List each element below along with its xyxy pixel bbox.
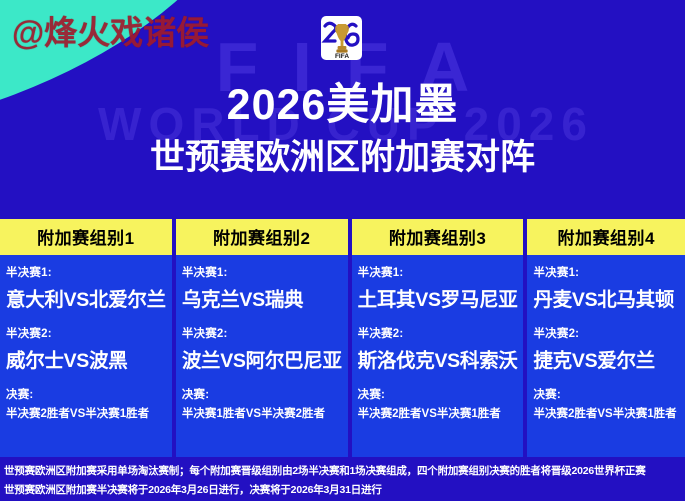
final-matchup: 半决赛2胜者VS半决赛1胜者: [358, 405, 518, 421]
page-subtitle: 世预赛欧洲区附加赛对阵: [0, 138, 685, 178]
semifinal-1-label: 半决赛1:: [358, 264, 518, 280]
semifinal-1-label: 半决赛1:: [533, 264, 679, 280]
playoff-group-1: 附加赛组别1 半决赛1: 意大利VS北爱尔兰 半决赛2: 威尔士VS波黑 决赛:…: [0, 219, 172, 457]
playoff-group-4: 附加赛组别4 半决赛1: 丹麦VS北马其顿 半决赛2: 捷克VS爱尔兰 决赛: …: [527, 219, 685, 457]
group-header: 附加赛组别4: [527, 219, 685, 255]
group-body: 半决赛1: 乌克兰VS瑞典 半决赛2: 波兰VS阿尔巴尼亚 决赛: 半决赛1胜者…: [176, 255, 348, 421]
semifinal-2-label: 半决赛2:: [182, 325, 342, 341]
final-matchup: 半决赛2胜者VS半决赛1胜者: [6, 405, 166, 421]
final-matchup: 半决赛1胜者VS半决赛2胜者: [182, 405, 342, 421]
title-block: 2026美加墨 世预赛欧洲区附加赛对阵: [0, 82, 685, 179]
semifinal-1-matchup: 意大利VS北爱尔兰: [6, 283, 166, 312]
final-label: 决赛:: [533, 386, 679, 402]
semifinal-2-label: 半决赛2:: [358, 325, 518, 341]
channel-watermark: @烽火戏诸侯: [12, 6, 209, 54]
semifinal-1-matchup: 土耳其VS罗马尼亚: [358, 283, 518, 312]
semifinal-2-matchup: 波兰VS阿尔巴尼亚: [182, 344, 342, 373]
page-title: 2026美加墨: [0, 82, 685, 128]
semifinal-1-label: 半决赛1:: [182, 264, 342, 280]
semifinal-1-label: 半决赛1:: [6, 264, 166, 280]
fifa-world-cup-26-logo: FIFA: [320, 12, 364, 72]
semifinal-1-matchup: 乌克兰VS瑞典: [182, 283, 342, 312]
footer-note-format: 世预赛欧洲区附加赛采用单场淘汰赛制；每个附加赛晋级组别由2场半决赛和1场决赛组成…: [4, 462, 681, 481]
semifinal-2-matchup: 威尔士VS波黑: [6, 344, 166, 373]
group-header: 附加赛组别2: [176, 219, 348, 255]
semifinal-2-matchup: 斯洛伐克VS科索沃: [358, 344, 518, 373]
semifinal-1-matchup: 丹麦VS北马其顿: [533, 283, 679, 312]
footer-notes: 世预赛欧洲区附加赛采用单场淘汰赛制；每个附加赛晋级组别由2场半决赛和1场决赛组成…: [0, 458, 685, 500]
group-body: 半决赛1: 意大利VS北爱尔兰 半决赛2: 威尔士VS波黑 决赛: 半决赛2胜者…: [0, 255, 172, 421]
group-body: 半决赛1: 丹麦VS北马其顿 半决赛2: 捷克VS爱尔兰 决赛: 半决赛2胜者V…: [527, 255, 685, 421]
final-matchup: 半决赛2胜者VS半决赛1胜者: [533, 405, 679, 421]
group-header: 附加赛组别1: [0, 219, 172, 255]
playoff-group-3: 附加赛组别3 半决赛1: 土耳其VS罗马尼亚 半决赛2: 斯洛伐克VS科索沃 决…: [352, 219, 524, 457]
group-body: 半决赛1: 土耳其VS罗马尼亚 半决赛2: 斯洛伐克VS科索沃 决赛: 半决赛2…: [352, 255, 524, 421]
playoff-group-2: 附加赛组别2 半决赛1: 乌克兰VS瑞典 半决赛2: 波兰VS阿尔巴尼亚 决赛:…: [176, 219, 348, 457]
group-header: 附加赛组别3: [352, 219, 524, 255]
playoff-groups: 附加赛组别1 半决赛1: 意大利VS北爱尔兰 半决赛2: 威尔士VS波黑 决赛:…: [0, 219, 685, 457]
svg-text:FIFA: FIFA: [335, 53, 349, 60]
semifinal-2-label: 半决赛2:: [533, 325, 679, 341]
final-label: 决赛:: [182, 386, 342, 402]
final-label: 决赛:: [358, 386, 518, 402]
semifinal-2-label: 半决赛2:: [6, 325, 166, 341]
footer-note-dates: 世预赛欧洲区附加赛半决赛将于2026年3月26日进行，决赛将于2026年3月31…: [4, 481, 681, 500]
semifinal-2-matchup: 捷克VS爱尔兰: [533, 344, 679, 373]
final-label: 决赛:: [6, 386, 166, 402]
